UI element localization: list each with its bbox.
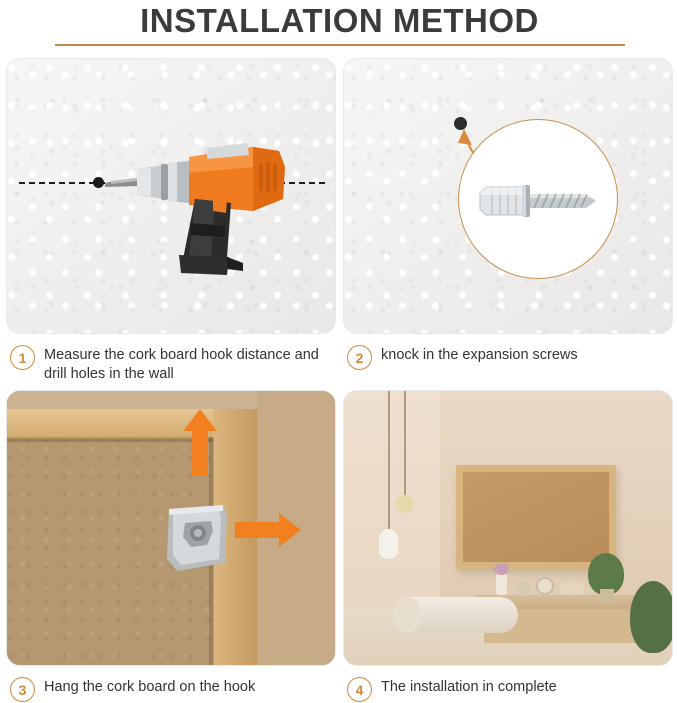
step-2-image <box>343 58 673 334</box>
title-underline <box>55 44 625 46</box>
paper-roll-end <box>394 597 420 633</box>
arrow-up-icon <box>183 409 217 475</box>
step-2-text: knock in the expansion screws <box>381 344 578 365</box>
step-4-image <box>343 390 673 666</box>
vase <box>496 573 507 595</box>
step-3-text: Hang the cork board on the hook <box>44 676 255 697</box>
desk-clock <box>536 577 554 595</box>
step-3-caption: 3 Hang the cork board on the hook <box>6 676 336 702</box>
step-3-image <box>6 390 336 666</box>
books <box>560 583 584 595</box>
pendant-cord-1 <box>404 391 406 495</box>
page-title: INSTALLATION METHOD <box>140 2 539 40</box>
metal-hook-icon <box>163 501 233 577</box>
arrow-right-icon <box>235 513 301 547</box>
plant-pot <box>600 589 614 603</box>
cork-board-on-wall <box>456 465 616 569</box>
step-card-2: 2 knock in the expansion screws <box>343 58 673 370</box>
step-1-image <box>6 58 336 334</box>
step-2-caption: 2 knock in the expansion screws <box>343 344 673 370</box>
flowers <box>494 563 509 575</box>
step-1-number: 1 <box>10 345 35 370</box>
pendant-lamp-2 <box>379 529 398 559</box>
decor-box <box>516 581 530 595</box>
step-3-number: 3 <box>10 677 35 702</box>
page-header: INSTALLATION METHOD <box>0 0 679 50</box>
step-card-3: 3 Hang the cork board on the hook <box>6 390 336 702</box>
pendant-lamp-1 <box>396 495 414 513</box>
step-1-text: Measure the cork board hook distance and… <box>44 344 336 384</box>
step-1-caption: 1 Measure the cork board hook distance a… <box>6 344 336 384</box>
step-4-number: 4 <box>347 677 372 702</box>
step-card-4: 4 The installation in complete <box>343 390 673 702</box>
expansion-screw-diagram <box>476 177 606 225</box>
step-4-caption: 4 The installation in complete <box>343 676 673 702</box>
step-2-number: 2 <box>347 345 372 370</box>
step-card-1: 1 Measure the cork board hook distance a… <box>6 58 336 384</box>
cork-board-surface <box>463 472 609 562</box>
steps-grid: 1 Measure the cork board hook distance a… <box>0 50 679 703</box>
plant-floor <box>630 581 673 653</box>
step-4-text: The installation in complete <box>381 676 557 697</box>
electric-drill-icon <box>103 107 318 287</box>
pendant-cord-2 <box>388 391 390 531</box>
